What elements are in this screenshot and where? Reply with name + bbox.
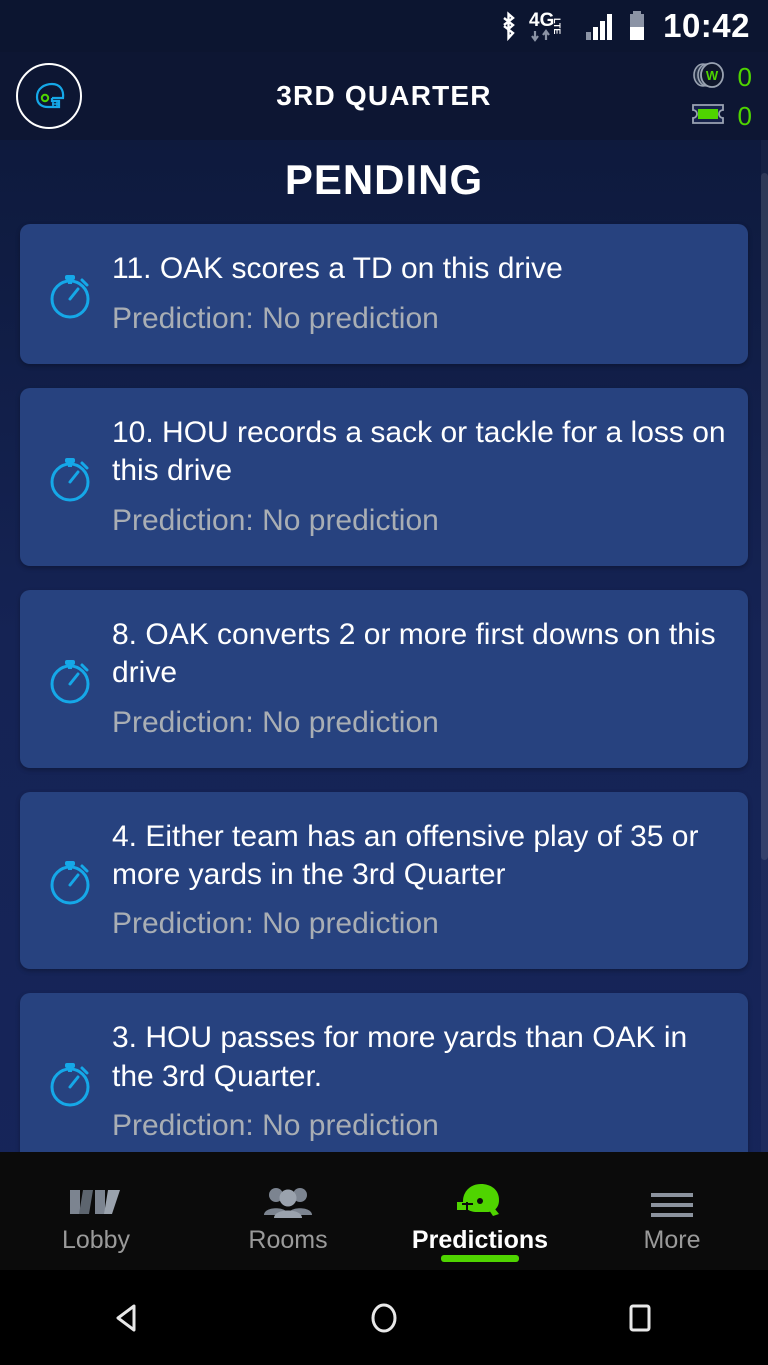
prediction-status: Prediction: No prediction (112, 299, 726, 338)
wallet-summary: W 0 0 (689, 61, 752, 132)
nav-item-more[interactable]: More (576, 1152, 768, 1270)
status-bar-clock: 10:42 (663, 7, 750, 45)
w-logo-icon (68, 1174, 124, 1220)
prediction-question: 8. OAK converts 2 or more first downs on… (112, 616, 726, 693)
4g-lte-icon: 4G LTE (529, 9, 575, 43)
svg-text:LTE: LTE (552, 18, 562, 34)
back-triangle-icon[interactable] (0, 1298, 256, 1338)
bottom-navigation: Lobby Rooms (0, 1152, 768, 1270)
ticket-count: 0 (738, 103, 752, 129)
prediction-card-text: 8. OAK converts 2 or more first downs on… (106, 616, 726, 742)
nav-item-lobby[interactable]: Lobby (0, 1152, 192, 1270)
bluetooth-icon (499, 11, 519, 41)
prediction-card[interactable]: 3. HOU passes for more yards than OAK in… (20, 993, 748, 1171)
home-circle-icon[interactable] (256, 1298, 512, 1338)
prediction-card-text: 11. OAK scores a TD on this drive Predic… (106, 250, 726, 337)
signal-icon (585, 11, 617, 41)
nav-label-predictions: Predictions (412, 1226, 548, 1255)
prediction-status: Prediction: No prediction (112, 703, 726, 742)
coin-balance[interactable]: W 0 (689, 61, 752, 94)
prediction-card[interactable]: 10. HOU records a sack or tackle for a l… (20, 388, 748, 566)
prediction-card[interactable]: 8. OAK converts 2 or more first downs on… (20, 590, 748, 768)
prediction-card[interactable]: 4. Either team has an offensive play of … (20, 792, 748, 970)
prediction-card-list: 11. OAK scores a TD on this drive Predic… (0, 224, 768, 1171)
helmet-icon (453, 1174, 507, 1220)
coin-stack-icon: W (689, 61, 729, 94)
nav-label-rooms: Rooms (248, 1226, 327, 1255)
nav-label-lobby: Lobby (62, 1226, 130, 1255)
nav-item-predictions[interactable]: Predictions (384, 1152, 576, 1270)
prediction-card[interactable]: 11. OAK scores a TD on this drive Predic… (20, 224, 748, 364)
scrollbar-thumb[interactable] (761, 173, 768, 859)
svg-text:4G: 4G (529, 10, 554, 31)
app-root: 4G LTE 10:42 (0, 0, 768, 1365)
prediction-question: 10. HOU records a sack or tackle for a l… (112, 414, 726, 491)
football-helmet-icon[interactable] (16, 63, 82, 129)
section-title: PENDING (0, 140, 768, 224)
system-navigation-bar (0, 1270, 768, 1365)
prediction-card-text: 3. HOU passes for more yards than OAK in… (106, 1019, 726, 1145)
ticket-balance[interactable]: 0 (689, 101, 752, 132)
app-bar: 3RD QUARTER W 0 (0, 52, 768, 140)
ticket-icon (689, 101, 729, 132)
battery-icon (627, 10, 647, 42)
prediction-card-text: 10. HOU records a sack or tackle for a l… (106, 414, 726, 540)
nav-label-more: More (644, 1226, 701, 1255)
prediction-status: Prediction: No prediction (112, 501, 726, 540)
status-bar: 4G LTE 10:42 (0, 0, 768, 52)
prediction-card-text: 4. Either team has an offensive play of … (106, 818, 726, 944)
stopwatch-icon (34, 851, 106, 909)
hamburger-menu-icon (647, 1174, 697, 1220)
active-tab-indicator (441, 1255, 519, 1262)
prediction-question: 4. Either team has an offensive play of … (112, 818, 726, 895)
stopwatch-icon (34, 448, 106, 506)
prediction-status: Prediction: No prediction (112, 904, 726, 943)
prediction-question: 11. OAK scores a TD on this drive (112, 250, 726, 288)
nav-item-rooms[interactable]: Rooms (192, 1152, 384, 1270)
predictions-scroll-area[interactable]: PENDING 11. OAK scores a TD on this driv… (0, 140, 768, 1247)
people-group-icon (261, 1174, 315, 1220)
stopwatch-icon (34, 650, 106, 708)
stopwatch-icon (34, 265, 106, 323)
prediction-question: 3. HOU passes for more yards than OAK in… (112, 1019, 726, 1096)
recents-square-icon[interactable] (512, 1298, 768, 1338)
prediction-status: Prediction: No prediction (112, 1106, 726, 1145)
stopwatch-icon (34, 1053, 106, 1111)
svg-text:W: W (705, 68, 718, 83)
scrollbar-track[interactable] (761, 140, 768, 1247)
coin-count: 0 (738, 64, 752, 90)
page-title-quarter: 3RD QUARTER (0, 80, 768, 112)
